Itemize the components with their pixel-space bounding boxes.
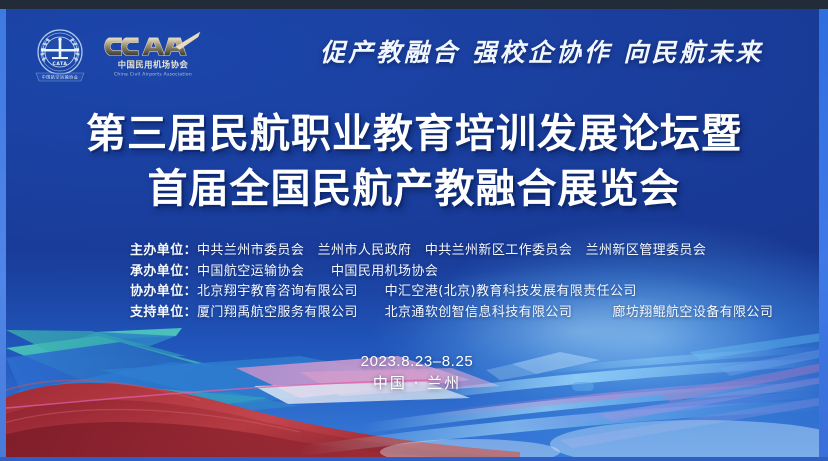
bottom-edge-accent (0, 457, 828, 461)
organizer-label-undertaker: 承办单位： (130, 264, 197, 279)
cata-emblem-icon: CATA 中国航空运输协会 (30, 27, 90, 85)
organizer-items-coorganizer: 北京翔宇教育咨询有限公司 中汇空港(北京)教育科技发展有限责任公司 (197, 284, 637, 299)
organizer-items-host: 中共兰州市委员会 兰州市人民政府 中共兰州新区工作委员会 兰州新区管理委员会 (197, 243, 706, 258)
organizer-items-supporter: 厦门翔禹航空服务有限公司 北京通软创智信息科技有限公司 廊坊翔鲲航空设备有限公司 (197, 305, 773, 320)
ccaa-logo-icon: 中国民用机场协会 China Civil Airports Associatio… (102, 30, 204, 82)
organizer-row-host: 主办单位：中共兰州市委员会 兰州市人民政府 中共兰州新区工作委员会 兰州新区管理… (130, 241, 773, 262)
organizer-label-host: 主办单位： (130, 243, 197, 258)
page-title: 第三届民航职业教育培训发展论坛暨 首届全国民航产教融合展览会 (0, 110, 828, 213)
organizer-row-supporter: 支持单位：厦门翔禹航空服务有限公司 北京通软创智信息科技有限公司 廊坊翔鲲航空设… (130, 303, 773, 324)
left-edge-accent (0, 9, 6, 461)
title-line-2: 首届全国民航产教融合展览会 (0, 165, 828, 213)
right-edge-accent (819, 9, 828, 461)
event-city: 中国 · 兰州 (292, 372, 542, 394)
svg-text:中国民用机场协会: 中国民用机场协会 (118, 59, 189, 69)
svg-text:中国航空运输协会: 中国航空运输协会 (42, 74, 79, 80)
slogan-text: 促产教融合 强校企协作 向民航未来 (320, 36, 800, 70)
logo-group: CATA 中国航空运输协会 中国民用机场协会 China Civil (30, 27, 204, 85)
top-bar (0, 0, 828, 9)
organizer-label-coorganizer: 协办单位： (130, 284, 197, 299)
organizer-list: 主办单位：中共兰州市委员会 兰州市人民政府 中共兰州新区工作委员会 兰州新区管理… (130, 241, 773, 323)
organizer-label-supporter: 支持单位： (130, 305, 197, 320)
organizer-row-undertaker: 承办单位：中国航空运输协会 中国民用机场协会 (130, 262, 773, 283)
svg-text:CATA: CATA (52, 61, 67, 67)
conference-poster: CATA 中国航空运输协会 中国民用机场协会 China Civil (0, 0, 828, 461)
event-date: 2023.8.23–8.25 (292, 352, 542, 372)
title-line-1: 第三届民航职业教育培训发展论坛暨 (0, 110, 828, 158)
organizer-row-coorganizer: 协办单位：北京翔宇教育咨询有限公司 中汇空港(北京)教育科技发展有限责任公司 (130, 282, 773, 303)
organizer-items-undertaker: 中国航空运输协会 中国民用机场协会 (197, 264, 438, 279)
event-meta: 2023.8.23–8.25 中国 · 兰州 (292, 352, 542, 394)
svg-text:China Civil Airports Associati: China Civil Airports Association (114, 72, 192, 78)
